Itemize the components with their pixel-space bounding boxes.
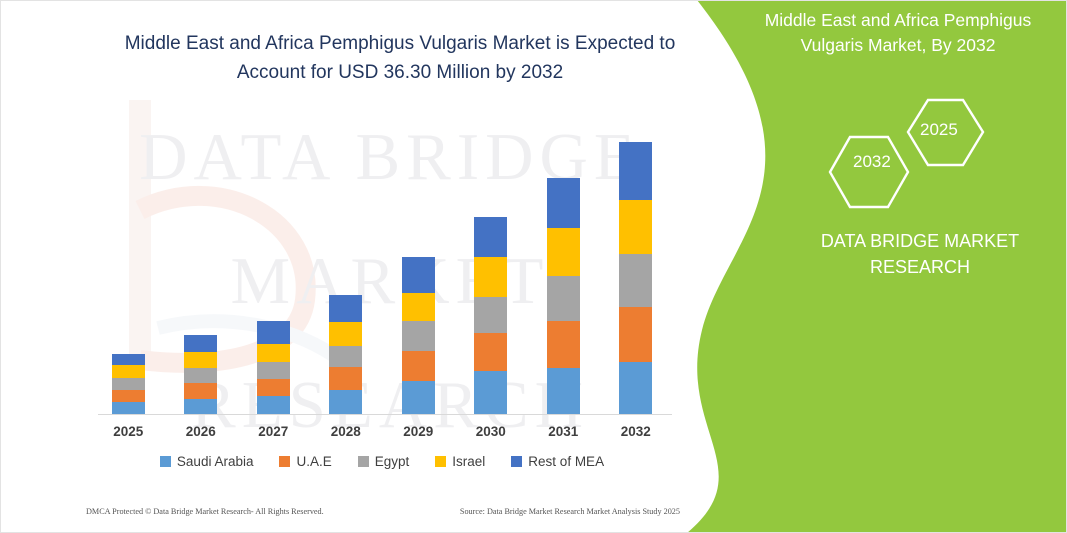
bar-segment [402, 321, 435, 351]
bar-segment [112, 390, 145, 402]
legend-label: Israel [452, 454, 485, 469]
page-title: Middle East and Africa Pemphigus Vulgari… [96, 30, 704, 87]
bar-segment [257, 362, 290, 379]
bar-segment [474, 371, 507, 414]
legend-label: Egypt [375, 454, 410, 469]
stacked-bar-2025[interactable] [112, 354, 145, 414]
panel-title: Middle East and Africa Pemphigus Vulgari… [742, 8, 1054, 59]
x-axis-tick-2027: 2027 [237, 424, 310, 439]
stacked-bar-2031[interactable] [547, 178, 580, 414]
hexagon-group: 2025 2032 [820, 92, 990, 217]
bar-segment [619, 254, 652, 306]
bar-slot [382, 110, 455, 414]
bar-segment [474, 333, 507, 371]
footer-copyright: DMCA Protected © Data Bridge Market Rese… [86, 507, 324, 516]
x-axis-labels: 20252026202720282029203020312032 [92, 424, 672, 439]
legend-swatch-icon [160, 456, 171, 467]
legend-item[interactable]: Rest of MEA [511, 454, 604, 469]
bar-segment [402, 293, 435, 321]
bar-segment [112, 402, 145, 414]
hexagon-label-2025: 2025 [920, 120, 958, 140]
legend-label: Rest of MEA [528, 454, 604, 469]
stacked-bar-2026[interactable] [184, 335, 217, 414]
legend-label: Saudi Arabia [177, 454, 254, 469]
x-axis-tick-2032: 2032 [600, 424, 673, 439]
infographic-canvas: DATA BRIDGE MARKET RESEARCH Middle East … [0, 0, 1067, 533]
legend-item[interactable]: Saudi Arabia [160, 454, 254, 469]
legend-swatch-icon [511, 456, 522, 467]
bar-segment [184, 383, 217, 399]
bar-segment [474, 217, 507, 257]
x-axis-tick-2030: 2030 [455, 424, 528, 439]
bar-segment [257, 344, 290, 362]
bar-segment [257, 396, 290, 414]
bar-segment [619, 142, 652, 200]
bar-segment [547, 321, 580, 368]
x-axis-line [98, 414, 672, 415]
bar-segment [547, 178, 580, 228]
bar-segment [329, 295, 362, 322]
stacked-bar-2032[interactable] [619, 142, 652, 414]
bar-segment [329, 390, 362, 414]
chart-legend: Saudi ArabiaU.A.EEgyptIsraelRest of MEA [92, 454, 672, 469]
legend-item[interactable]: Israel [435, 454, 485, 469]
bar-segment [112, 378, 145, 390]
bar-slot [310, 110, 383, 414]
footer: DMCA Protected © Data Bridge Market Rese… [86, 507, 686, 516]
panel-brand-name: DATA BRIDGE MARKET RESEARCH [770, 228, 1067, 280]
bar-segment [619, 362, 652, 414]
bar-segment [112, 365, 145, 378]
bar-slot [455, 110, 528, 414]
bar-segment [474, 297, 507, 333]
bar-segment [184, 335, 217, 352]
bar-segment [329, 322, 362, 346]
stacked-bar-2030[interactable] [474, 217, 507, 414]
bar-segment [257, 379, 290, 396]
stacked-bar-2028[interactable] [329, 295, 362, 414]
legend-item[interactable]: U.A.E [279, 454, 331, 469]
legend-item[interactable]: Egypt [358, 454, 410, 469]
bar-segment [257, 321, 290, 344]
bar-slot [165, 110, 238, 414]
bar-segment [184, 352, 217, 368]
bar-slot [600, 110, 673, 414]
bar-slot [527, 110, 600, 414]
bar-segment [329, 346, 362, 367]
legend-swatch-icon [279, 456, 290, 467]
bar-segment [402, 381, 435, 414]
bar-group [92, 110, 672, 414]
legend-label: U.A.E [296, 454, 331, 469]
x-axis-tick-2031: 2031 [527, 424, 600, 439]
bar-segment [547, 368, 580, 414]
bar-segment [619, 200, 652, 255]
bar-segment [474, 257, 507, 297]
x-axis-tick-2026: 2026 [165, 424, 238, 439]
bar-segment [329, 367, 362, 390]
bar-slot [92, 110, 165, 414]
stacked-bar-2029[interactable] [402, 257, 435, 414]
bar-segment [619, 307, 652, 362]
bar-segment [184, 368, 217, 382]
footer-source: Source: Data Bridge Market Research Mark… [460, 507, 680, 516]
x-axis-tick-2029: 2029 [382, 424, 455, 439]
x-axis-tick-2028: 2028 [310, 424, 383, 439]
bar-segment [184, 399, 217, 414]
bar-segment [547, 276, 580, 321]
bar-segment [547, 228, 580, 276]
bar-segment [402, 351, 435, 381]
chart-plot-area [92, 110, 672, 415]
stacked-bar-2027[interactable] [257, 321, 290, 414]
legend-swatch-icon [358, 456, 369, 467]
bar-segment [402, 257, 435, 293]
hexagon-label-2032: 2032 [853, 152, 891, 172]
hexagon-shapes [820, 92, 990, 217]
x-axis-tick-2025: 2025 [92, 424, 165, 439]
bar-slot [237, 110, 310, 414]
legend-swatch-icon [435, 456, 446, 467]
bar-segment [112, 354, 145, 365]
